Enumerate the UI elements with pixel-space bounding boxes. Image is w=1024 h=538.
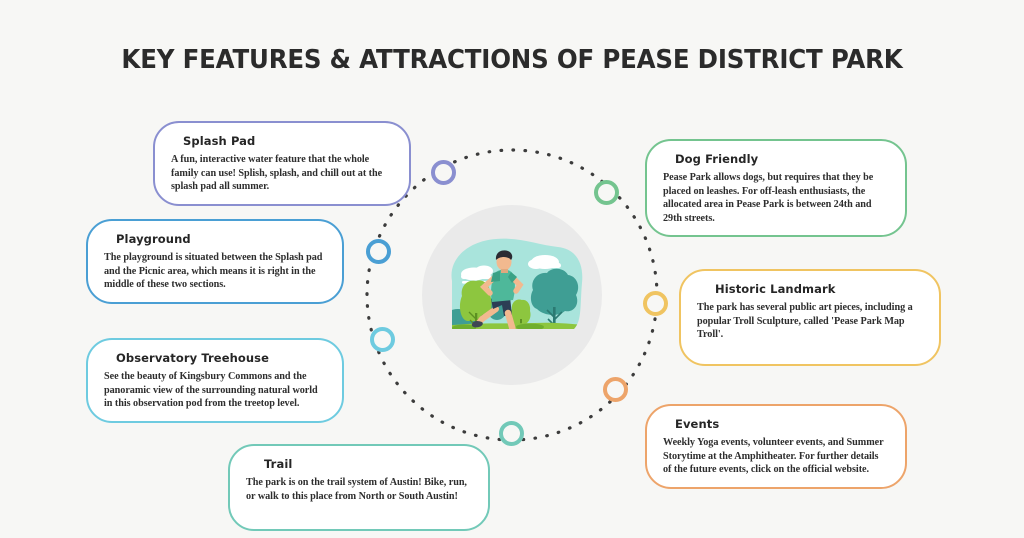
card-title: Splash Pad <box>171 134 393 148</box>
card-events[interactable]: Events Weekly Yoga events, volunteer eve… <box>645 404 907 489</box>
card-body: A fun, interactive water feature that th… <box>171 153 393 194</box>
card-observatory-treehouse[interactable]: Observatory Treehouse See the beauty of … <box>86 338 344 423</box>
card-title: Events <box>663 417 889 431</box>
card-body: Pease Park allows dogs, but requires tha… <box>663 171 889 225</box>
card-title: Historic Landmark <box>697 282 923 296</box>
card-dog-friendly[interactable]: Dog Friendly Pease Park allows dogs, but… <box>645 139 907 237</box>
card-title: Trail <box>246 457 472 471</box>
page-title: KEY FEATURES & ATTRACTIONS OF PEASE DIST… <box>20 45 1003 75</box>
marker-splash-pad[interactable] <box>431 160 456 185</box>
card-body: Weekly Yoga events, volunteer events, an… <box>663 436 889 477</box>
card-body: See the beauty of Kingsbury Commons and … <box>104 370 326 411</box>
card-body: The park is on the trail system of Austi… <box>246 476 472 503</box>
card-title: Observatory Treehouse <box>104 351 326 365</box>
marker-trail[interactable] <box>499 421 524 446</box>
infographic-canvas: KEY FEATURES & ATTRACTIONS OF PEASE DIST… <box>0 0 1024 538</box>
runner-in-park-illustration <box>434 225 590 365</box>
card-body: The playground is situated between the S… <box>104 251 326 292</box>
marker-observatory-treehouse[interactable] <box>370 327 395 352</box>
card-trail[interactable]: Trail The park is on the trail system of… <box>228 444 490 531</box>
marker-historic-landmark[interactable] <box>643 291 668 316</box>
marker-dog-friendly[interactable] <box>594 180 619 205</box>
card-historic-landmark[interactable]: Historic Landmark The park has several p… <box>679 269 941 366</box>
card-title: Playground <box>104 232 326 246</box>
card-splash-pad[interactable]: Splash Pad A fun, interactive water feat… <box>153 121 411 206</box>
marker-events[interactable] <box>603 377 628 402</box>
card-playground[interactable]: Playground The playground is situated be… <box>86 219 344 304</box>
card-title: Dog Friendly <box>663 152 889 166</box>
card-body: The park has several public art pieces, … <box>697 301 923 342</box>
marker-playground[interactable] <box>366 239 391 264</box>
